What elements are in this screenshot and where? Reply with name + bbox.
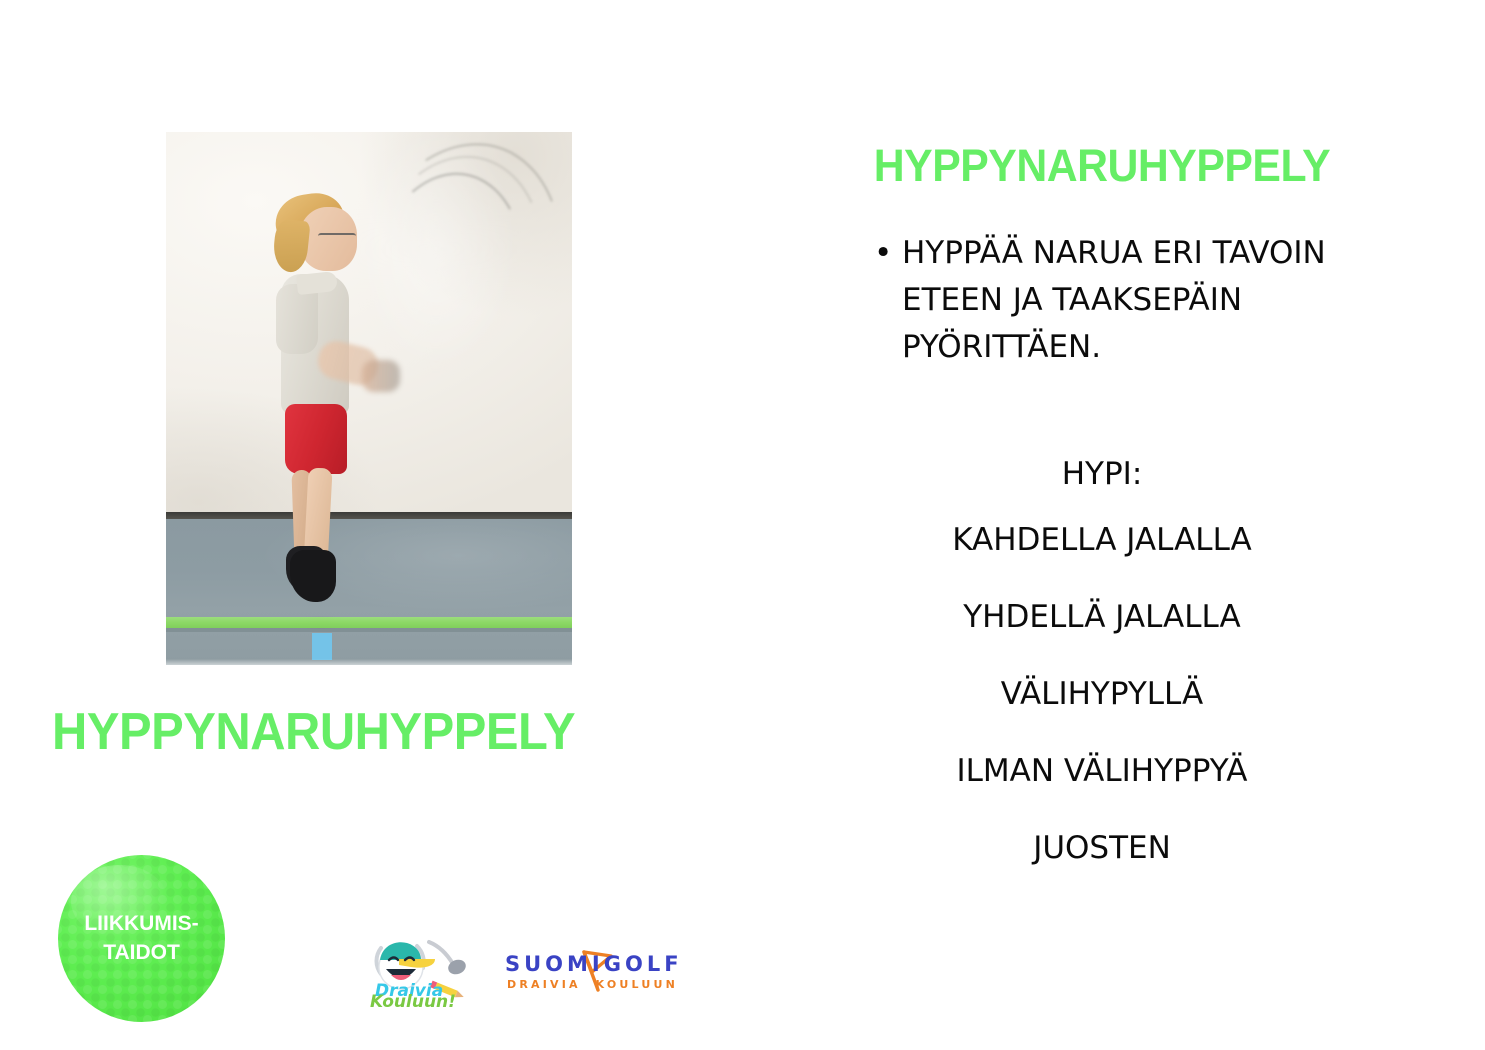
child-sock-front [290,550,336,602]
list-item: • HYPPÄÄ NARUA ERI TAVOIN ETEEN JA TAAKS… [872,230,1392,371]
badge-label: LIIKKUMIS- TAIDOT [84,910,198,967]
list-item-label: HYPPÄÄ NARUA ERI TAVOIN ETEEN JA TAAKSEP… [902,235,1326,365]
list-item: KAHDELLA JALALLA [752,522,1452,558]
floor-marker-blue [312,633,332,660]
list-item: VÄLIHYPYLLÄ [752,676,1452,712]
golf-word: GOLF [604,952,683,976]
list-item: YHDELLÄ JALALLA [752,599,1452,635]
child-sleeve [276,284,318,354]
suomi-golf-wordmark: SUOMI GOLF [505,952,680,976]
draivia-kouluun-logo: Draivia Kouluun! [369,934,473,1008]
draivia-mascot-icon: Draivia Kouluun! [369,934,473,1008]
floor-tape-line-green [166,617,572,628]
svg-text:Kouluun!: Kouluun! [370,992,456,1008]
variations-list: KAHDELLA JALALLA YHDELLÄ JALALLA VÄLIHYP… [752,522,1452,866]
list-item: JUOSTEN [752,830,1452,866]
suomi-golf-logo: SUOMI GOLF DRAIVIA KOULUUN [505,952,680,994]
instruction-bullet-list: • HYPPÄÄ NARUA ERI TAVOIN ETEEN JA TAAKS… [752,230,1452,371]
child-hand-with-handle [362,360,400,392]
draivia-sub: DRAIVIA [507,978,581,991]
badge-label-line2: TAIDOT [84,939,198,967]
child-hair-back [271,218,310,273]
slide-canvas: HYPPYNARUHYPPELY LIIKKUMIS- TAIDOT [0,0,1485,1050]
variations-heading: HYPI: [752,456,1452,492]
photo-bottom-fade [166,659,572,665]
left-page-title: HYPPYNARUHYPPELY [52,702,654,762]
badge-label-line1: LIIKKUMIS- [84,910,198,938]
jump-rope-photo [166,132,572,665]
bullet-icon: • [874,230,892,277]
floor-tape-shadow [166,628,572,632]
child-shorts [285,404,347,474]
status-badge-liikkumistaidot: LIIKKUMIS- TAIDOT [58,855,225,1022]
right-content-column: HYPPYNARUHYPPELY • HYPPÄÄ NARUA ERI TAVO… [752,140,1452,866]
list-item: ILMAN VÄLIHYPPYÄ [752,753,1452,789]
page-title: HYPPYNARUHYPPELY [770,140,1435,192]
suomi-word: SUOMI [505,952,604,976]
jumping-child [166,132,572,665]
glasses-icon [318,233,356,242]
